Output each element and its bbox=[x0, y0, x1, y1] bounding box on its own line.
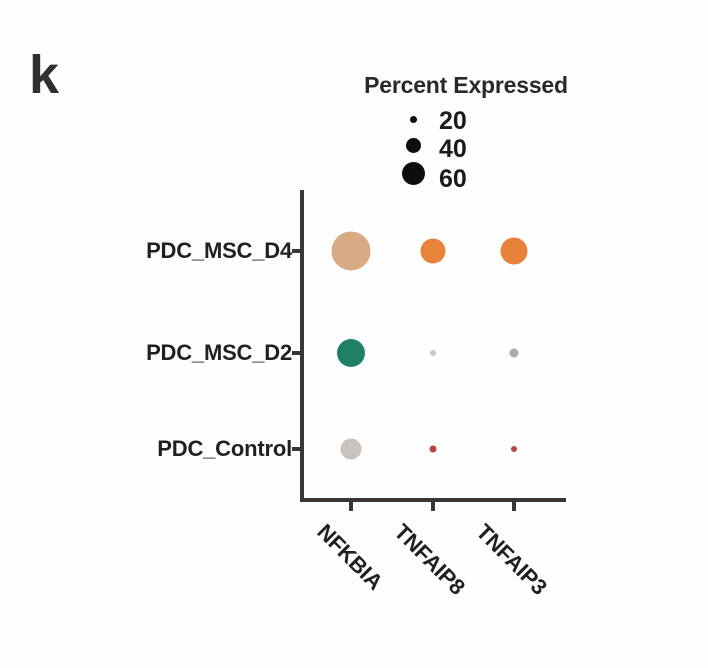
y-axis-line bbox=[300, 190, 304, 502]
dot-tnfaip8-pdc-control bbox=[430, 446, 437, 453]
legend-items: 20 40 60 bbox=[335, 109, 597, 185]
legend: Percent Expressed 20 40 60 bbox=[335, 72, 597, 185]
legend-title: Percent Expressed bbox=[335, 72, 597, 99]
dotplot-figure: k Percent Expressed 20 40 60 bbox=[0, 0, 708, 668]
x-tick-tnfaip8 bbox=[431, 502, 435, 511]
dot-nfkbia-pdc-msc-d2 bbox=[337, 339, 365, 367]
dot-nfkbia-pdc-control bbox=[341, 439, 362, 460]
legend-dot-60 bbox=[402, 162, 425, 185]
dot-tnfaip8-pdc-msc-d2 bbox=[430, 350, 436, 356]
x-label-tnfaip3: TNFAIP3 bbox=[471, 519, 552, 600]
dot-tnfaip8-pdc-msc-d4 bbox=[421, 239, 446, 264]
dot-tnfaip3-pdc-msc-d4 bbox=[501, 238, 528, 265]
x-tick-nfkbia bbox=[349, 502, 353, 511]
y-tick-pdc-control bbox=[292, 447, 301, 451]
x-tick-tnfaip3 bbox=[512, 502, 516, 511]
legend-dot-20 bbox=[410, 116, 417, 123]
panel-label: k bbox=[29, 48, 59, 102]
y-tick-pdc-msc-d2 bbox=[292, 351, 301, 355]
legend-dot-40 bbox=[406, 138, 421, 153]
y-tick-pdc-msc-d4 bbox=[292, 249, 301, 253]
x-label-tnfaip8: TNFAIP8 bbox=[389, 519, 470, 600]
y-axis-labels: PDC_MSC_D4 PDC_MSC_D2 PDC_Control bbox=[80, 0, 292, 668]
dot-tnfaip3-pdc-msc-d2 bbox=[510, 349, 519, 358]
dot-tnfaip3-pdc-control bbox=[511, 446, 517, 452]
x-label-nfkbia: NFKBIA bbox=[312, 519, 388, 595]
dot-nfkbia-pdc-msc-d4 bbox=[332, 232, 371, 271]
